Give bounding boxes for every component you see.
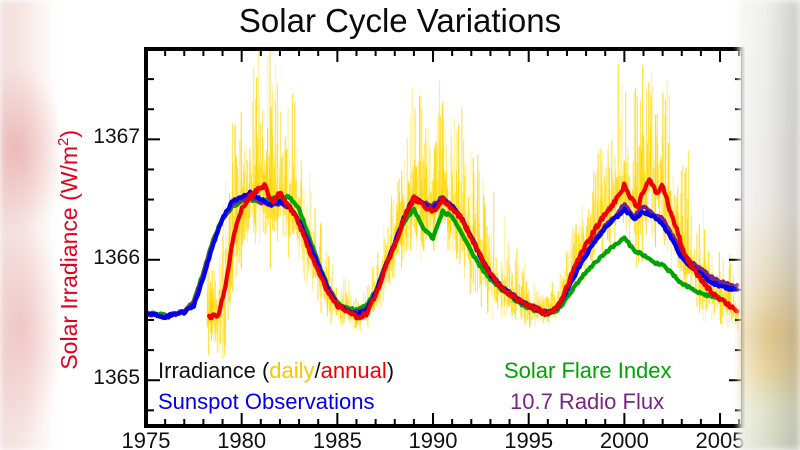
x-tick-label: 1975	[101, 428, 191, 450]
y-tick-label: 1367	[80, 125, 140, 149]
x-tick-label: 1990	[388, 428, 478, 450]
x-tick-label: 1995	[484, 428, 574, 450]
y-tick-label-group: 136513661367	[78, 0, 140, 450]
x-tick-label: 1985	[292, 428, 382, 450]
x-tick-label-group: 1975198019851990199520002005	[0, 428, 800, 450]
chart-screenshot: Solar Cycle Variations Solar Irradiance …	[0, 0, 800, 450]
x-tick-label: 2000	[579, 428, 669, 450]
y-tick-label: 1365	[80, 366, 140, 390]
y-tick-label: 1366	[80, 246, 140, 270]
x-tick-label: 2005	[675, 428, 765, 450]
x-tick-label: 1980	[197, 428, 287, 450]
